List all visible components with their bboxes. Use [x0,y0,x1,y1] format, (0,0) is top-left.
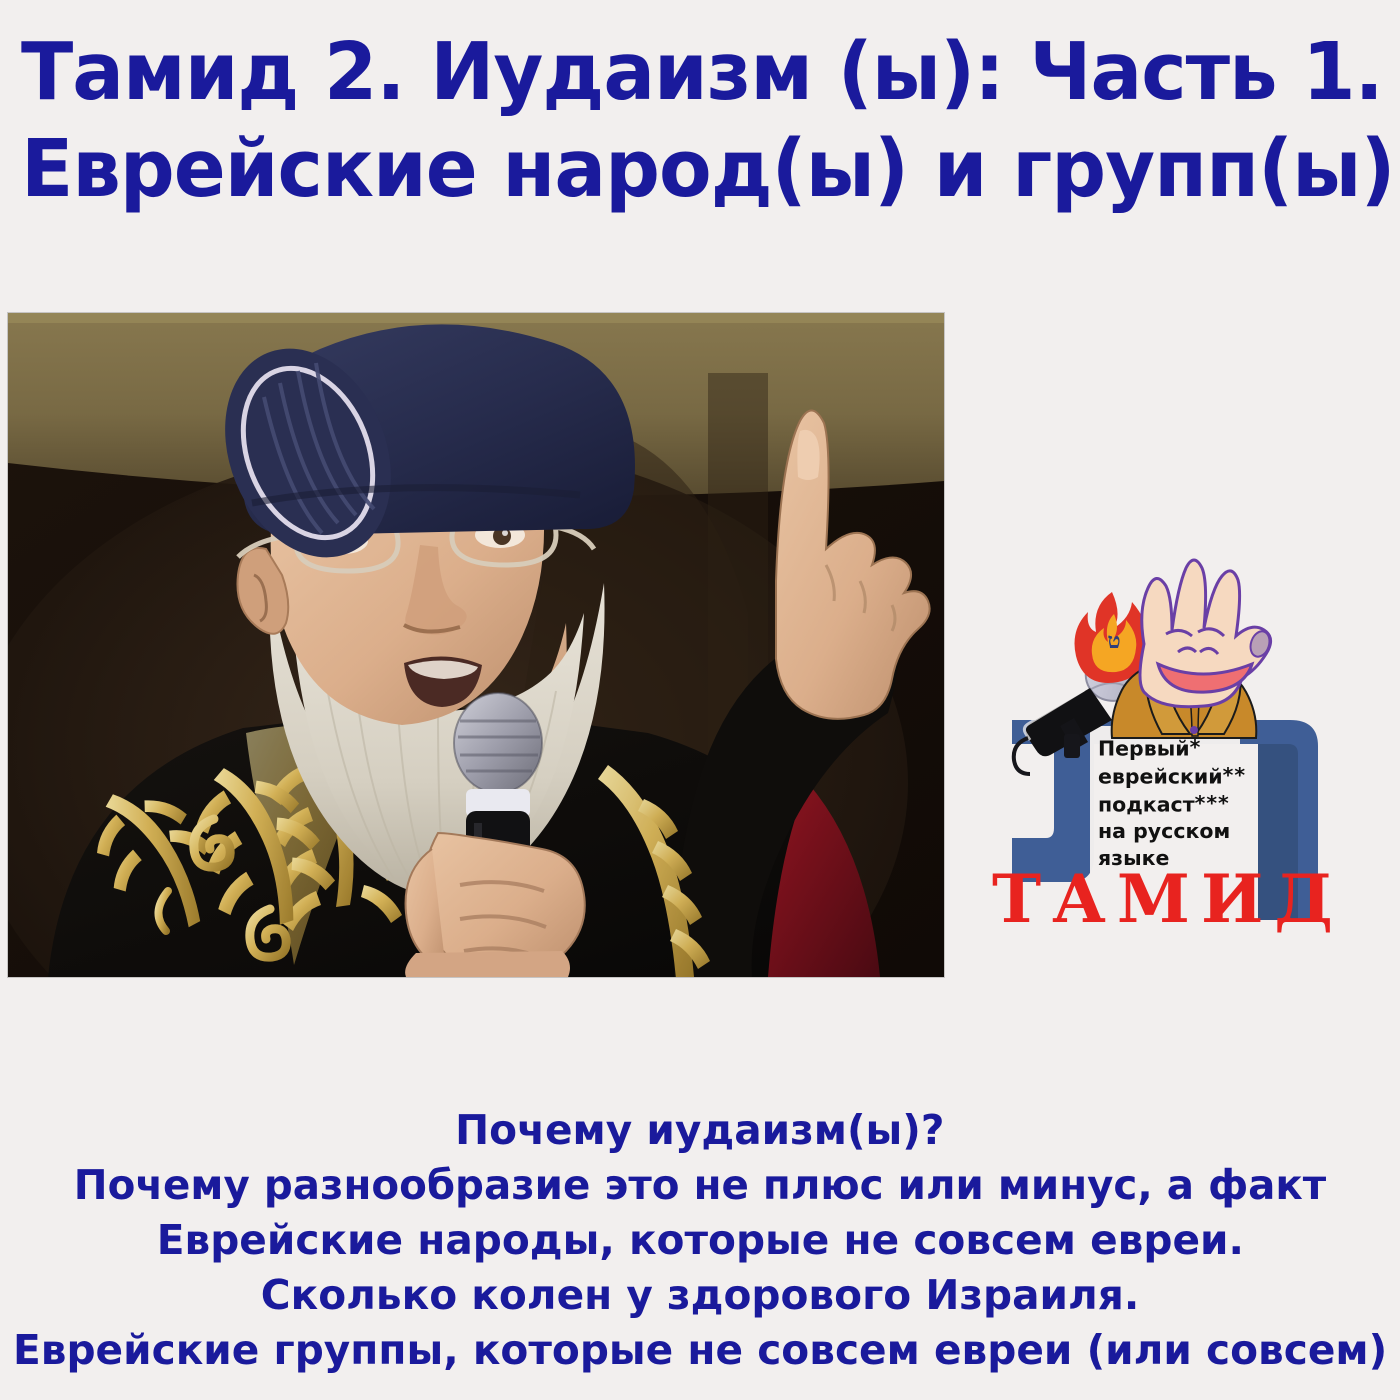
logo-wordmark: ТАМИД [992,866,1344,932]
logo-tagline: Первый* еврейский** подкаст*** на русско… [1098,734,1278,871]
speaker-photo [8,313,944,977]
tagline-line-1: Первый* [1098,734,1278,762]
tagline-line-3: подкаст*** [1098,790,1278,818]
topic-line-3: Еврейские народы, которые не совсем евре… [156,1213,1243,1268]
topic-line-4: Сколько колен у здорового Израиля. [261,1268,1140,1323]
episode-topics: Почему иудаизм(ы)? Почему разнообразие э… [0,1103,1400,1378]
tamid-podcast-logo: ט Первый* [998,548,1350,960]
title-line-1: Тамид 2. Иудаизм (ы): Часть 1. [21,24,1379,121]
speaker-photo-illustration [8,313,944,977]
title-line-2: Еврейские народ(ы) и групп(ы) [21,121,1379,218]
topic-line-2: Почему разнообразие это не плюс или мину… [11,1158,1390,1213]
page-title: Тамид 2. Иудаизм (ы): Часть 1. Еврейские… [21,24,1379,218]
flame-icon: ט [1075,592,1149,683]
topic-line-5: Еврейские группы, которые не совсем евре… [13,1323,1387,1378]
svg-text:ט: ט [1107,628,1120,654]
tagline-line-4: на русском [1098,818,1278,844]
tagline-line-2: еврейский** [1098,762,1278,790]
topic-line-1: Почему иудаизм(ы)? [455,1103,944,1158]
